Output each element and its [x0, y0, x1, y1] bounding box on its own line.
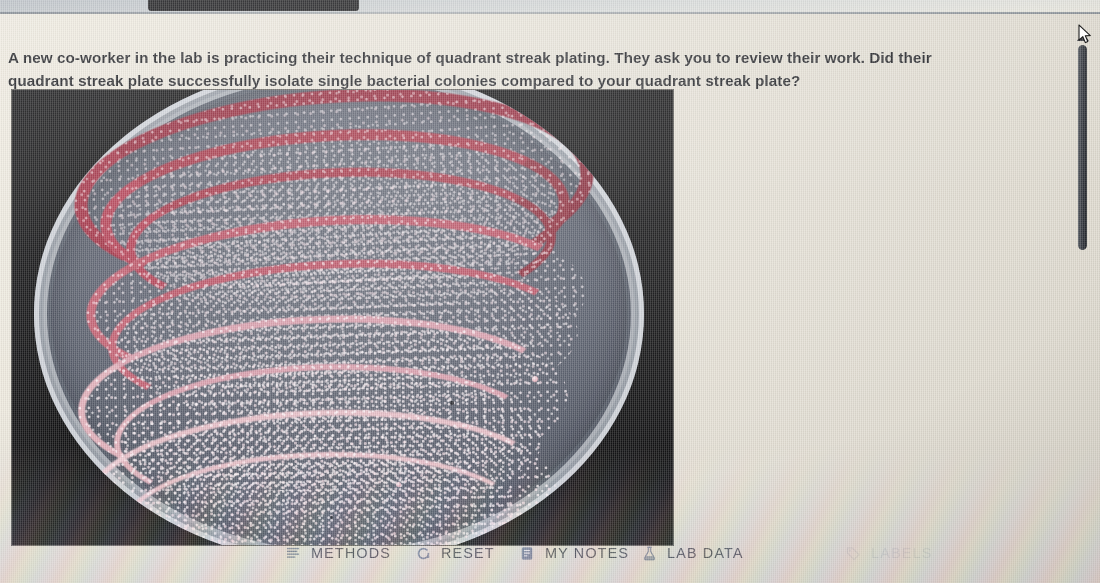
scroll-up-arrow-icon[interactable] — [1077, 32, 1089, 41]
reset-button[interactable]: RESET — [415, 544, 495, 563]
my-notes-button[interactable]: MY NOTES — [519, 544, 629, 563]
my-notes-label: MY NOTES — [545, 546, 629, 562]
application-page: A new co-worker in the lab is practicing… — [0, 14, 1100, 583]
vertical-scrollbar[interactable] — [1075, 32, 1091, 532]
list-lines-icon — [285, 544, 302, 563]
quadrant-streak-plate-image[interactable] — [12, 90, 673, 545]
methods-button[interactable]: METHODS — [285, 544, 391, 563]
question-prompt: A new co-worker in the lab is practicing… — [8, 47, 1056, 93]
agar-surface-texture — [50, 90, 628, 545]
reset-label: RESET — [441, 546, 495, 562]
lab-data-label: LAB DATA — [667, 546, 744, 562]
flask-icon — [641, 544, 658, 563]
petri-dish — [34, 90, 644, 545]
labels-label: LABELS — [871, 546, 933, 562]
answer-pane[interactable] — [690, 90, 1050, 530]
refresh-circle-icon — [415, 544, 432, 563]
methods-label: METHODS — [311, 546, 391, 562]
photographed-screen: A new co-worker in the lab is practicing… — [0, 0, 1100, 583]
notepad-icon — [519, 544, 536, 563]
tag-icon — [845, 544, 862, 563]
scrollbar-thumb[interactable] — [1078, 45, 1087, 250]
labels-button[interactable]: LABELS — [845, 544, 933, 563]
question-line-1: A new co-worker in the lab is practicing… — [8, 47, 1056, 70]
bottom-toolbar: METHODS RESET — [0, 530, 1100, 583]
lab-data-button[interactable]: LAB DATA — [641, 544, 744, 563]
webcam-notch — [148, 0, 359, 11]
bezel-edge-line — [0, 12, 1100, 14]
